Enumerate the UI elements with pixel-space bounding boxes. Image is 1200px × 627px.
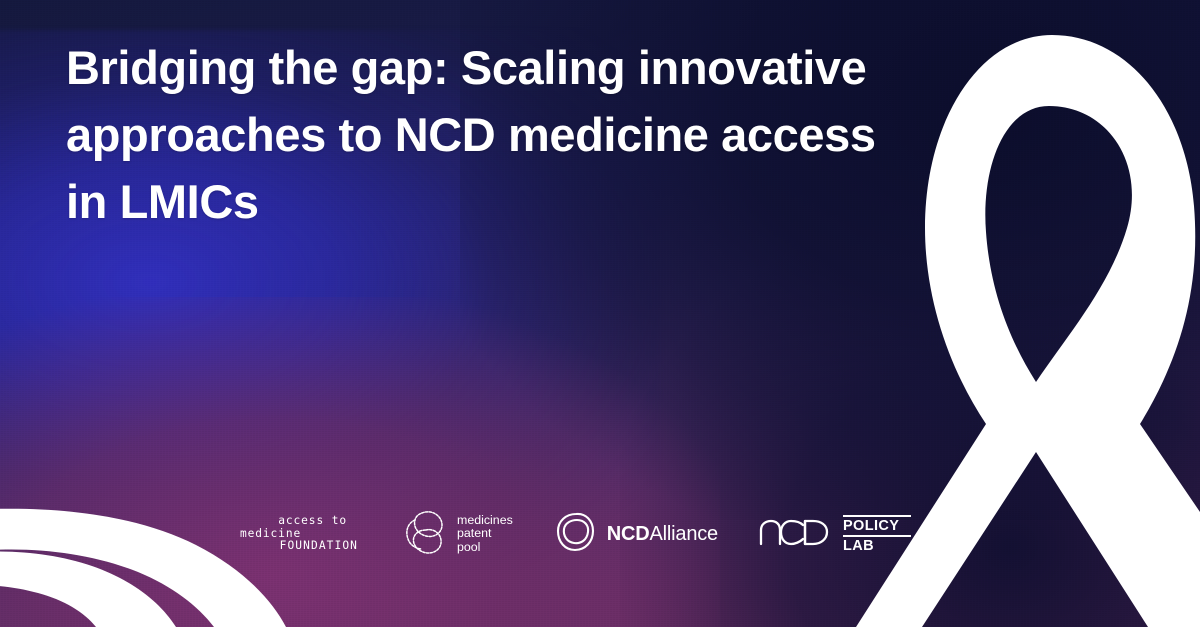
logo-access-to-medicine-foundation[interactable]: access to medicine FOUNDATION [240,515,358,553]
amf-line-1: access to [240,515,358,528]
logo-ncd-policy-lab[interactable]: POLICY LAB [758,515,911,554]
sketch-circle-icon [555,510,597,559]
npl-line-2: LAB [843,537,874,554]
ncd-alliance-light: Alliance [650,523,718,545]
ncd-alliance-bold: NCD [607,523,650,545]
npl-line-1: POLICY [843,517,899,535]
page-title: Bridging the gap: Scaling innovative app… [66,34,896,235]
background-purple-bottom [0,297,720,627]
logo-ncd-alliance[interactable]: NCDAlliance [555,510,718,559]
interlocking-rings-icon [402,508,448,561]
poster-canvas: Bridging the gap: Scaling innovative app… [0,0,1200,627]
ncd-policy-lab-wordmark: POLICY LAB [843,515,911,554]
mpp-line-2: patent [457,527,513,541]
logo-medicines-patent-pool[interactable]: medicines patent pool [402,508,513,561]
partner-logo-row: access to medicine FOUNDATION medicines … [240,505,911,563]
amf-line-3: FOUNDATION [240,540,358,553]
ncd-alliance-wordmark: NCDAlliance [607,523,718,546]
ncd-lettermark-icon [758,517,832,552]
mpp-line-3: pool [457,541,513,555]
mpp-line-1: medicines [457,514,513,528]
